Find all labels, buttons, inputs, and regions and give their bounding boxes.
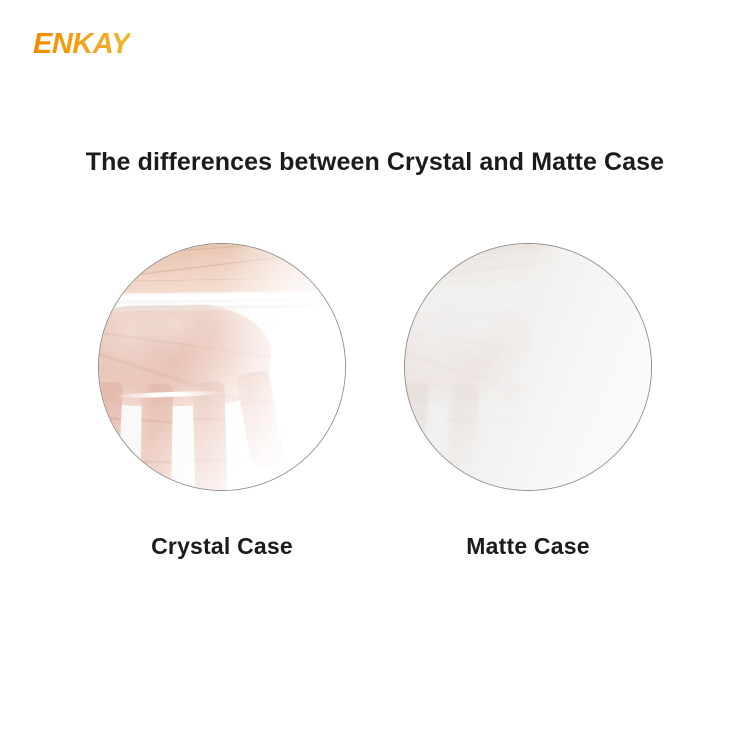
case-gloss-sweep	[99, 244, 345, 490]
matte-case-caption: Matte Case	[466, 533, 589, 560]
brand-logo: ENKAY	[33, 30, 130, 59]
matte-case-sample-image	[404, 243, 652, 491]
sample-matte: Matte Case	[403, 243, 653, 560]
crystal-case-photo-layers	[99, 244, 345, 490]
sample-crystal: Crystal Case	[97, 243, 347, 560]
frost-overlay	[405, 244, 651, 490]
crystal-case-sample-image	[98, 243, 346, 491]
crystal-case-caption: Crystal Case	[151, 533, 293, 560]
comparison-row: Crystal Case Matte Case	[0, 243, 750, 560]
page-title: The differences between Crystal and Matt…	[0, 148, 750, 177]
